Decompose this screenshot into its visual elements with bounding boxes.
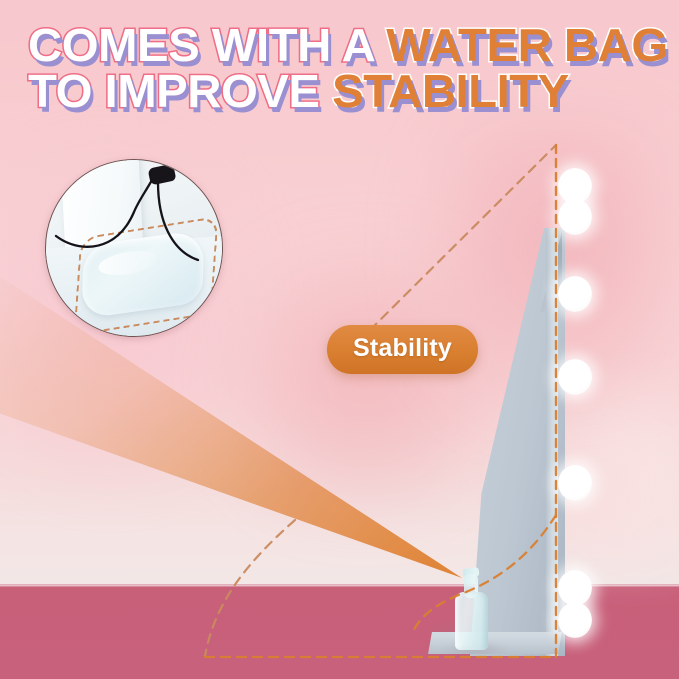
light-bulb-icon	[558, 276, 592, 312]
stability-badge: Stability	[327, 325, 478, 374]
zoom-detail-circle	[45, 159, 223, 337]
light-bulb-icon	[558, 359, 592, 395]
headline-line-2-white: TO IMPROVE	[28, 65, 332, 117]
headline-line-2: TO IMPROVE STABILITY	[28, 68, 677, 114]
inset-power-cable	[46, 160, 222, 336]
bottle-body	[455, 592, 488, 650]
headline-line-1-orange: WATER BAG	[386, 19, 667, 71]
water-bottle	[452, 568, 490, 650]
light-bulb-icon	[558, 199, 592, 235]
light-bulb-icon	[558, 602, 592, 638]
light-bulb-icon	[558, 570, 592, 606]
promo-image: Stability COMES WITH A WATER BAG TO IMPR…	[0, 0, 679, 679]
headline-line-1: COMES WITH A WATER BAG	[28, 22, 677, 68]
page-title: COMES WITH A WATER BAG TO IMPROVE STABIL…	[28, 22, 677, 114]
mirror-edge-strip	[546, 228, 558, 656]
headline-line-2-orange: STABILITY	[332, 65, 569, 117]
headline-line-1-white: COMES WITH A	[28, 19, 386, 71]
light-bulb-icon	[558, 465, 592, 501]
